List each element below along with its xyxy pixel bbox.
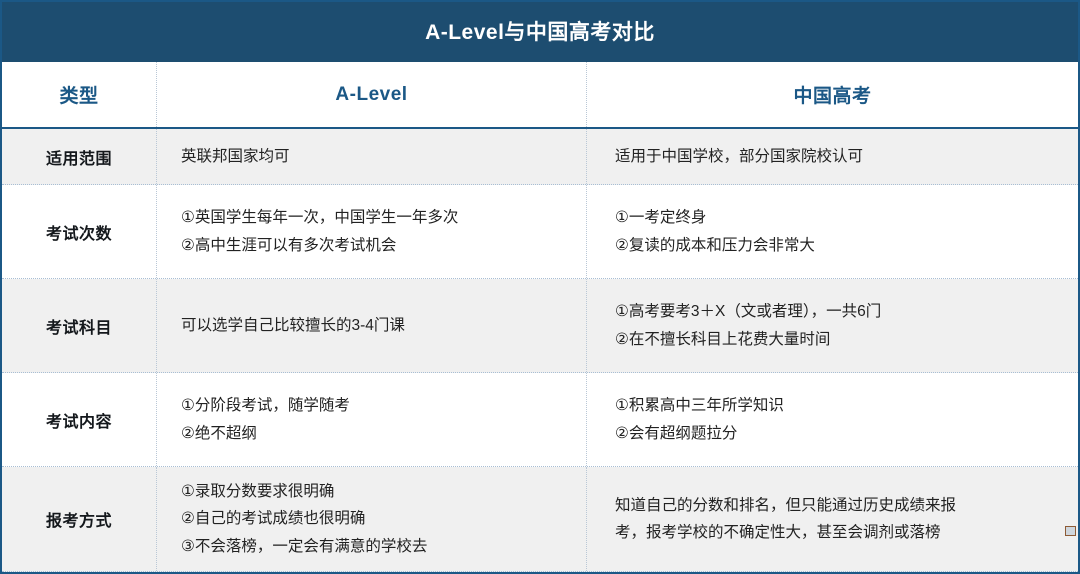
comparison-table: A-Level与中国高考对比 类型 A-Level 中国高考 适用范围 英联邦国… [0, 0, 1080, 574]
header-label-gaokao: 中国高考 [793, 81, 871, 108]
row-cell-alevel: ①录取分数要求很明确 ②自己的考试成绩也很明确 ③不会落榜，一定会有满意的学校去 [157, 467, 587, 571]
table-row: 考试次数 ①英国学生每年一次，中国学生一年多次 ②高中生涯可以有多次考试机会 ①… [2, 185, 1078, 279]
table-row: 适用范围 英联邦国家均可 适用于中国学校，部分国家院校认可 [2, 129, 1078, 185]
table-title: A-Level与中国高考对比 [425, 22, 655, 43]
row-label: 适用范围 [46, 145, 112, 169]
row-value-gaokao: ①高考要考3＋X（文或者理），一共6门 ②在不擅长科目上花费大量时间 [615, 298, 881, 352]
header-cell-type: 类型 [2, 62, 157, 127]
row-label-cell: 适用范围 [2, 129, 157, 184]
header-cell-gaokao: 中国高考 [587, 62, 1078, 127]
row-value-gaokao: ①一考定终身 ②复读的成本和压力会非常大 [615, 204, 815, 258]
row-label: 考试科目 [46, 314, 112, 338]
table-title-band: A-Level与中国高考对比 [2, 2, 1078, 62]
row-label-cell: 报考方式 [2, 467, 157, 571]
table-row: 考试内容 ①分阶段考试，随学随考 ②绝不超纲 ①积累高中三年所学知识 ②会有超纲… [2, 373, 1078, 467]
row-label: 报考方式 [46, 507, 112, 531]
row-cell-alevel: ①英国学生每年一次，中国学生一年多次 ②高中生涯可以有多次考试机会 [157, 185, 587, 278]
row-cell-gaokao: 知道自己的分数和排名，但只能通过历史成绩来报 考，报考学校的不确定性大，甚至会调… [587, 467, 1078, 571]
row-label-cell: 考试内容 [2, 373, 157, 466]
row-cell-gaokao: ①积累高中三年所学知识 ②会有超纲题拉分 [587, 373, 1078, 466]
row-value-gaokao: 适用于中国学校，部分国家院校认可 [615, 143, 863, 170]
row-cell-gaokao: ①一考定终身 ②复读的成本和压力会非常大 [587, 185, 1078, 278]
row-label-cell: 考试次数 [2, 185, 157, 278]
row-cell-alevel: 英联邦国家均可 [157, 129, 587, 184]
row-value-gaokao: ①积累高中三年所学知识 ②会有超纲题拉分 [615, 392, 784, 446]
header-label-alevel: A-Level [335, 84, 407, 106]
edge-artifact [1065, 526, 1076, 536]
row-cell-alevel: 可以选学自己比较擅长的3-4门课 [157, 279, 587, 372]
row-cell-alevel: ①分阶段考试，随学随考 ②绝不超纲 [157, 373, 587, 466]
table-row: 报考方式 ①录取分数要求很明确 ②自己的考试成绩也很明确 ③不会落榜，一定会有满… [2, 467, 1078, 572]
row-value-alevel: ①录取分数要求很明确 ②自己的考试成绩也很明确 ③不会落榜，一定会有满意的学校去 [181, 478, 427, 559]
row-label: 考试内容 [46, 408, 112, 432]
header-label-type: 类型 [59, 81, 98, 108]
row-value-alevel: ①分阶段考试，随学随考 ②绝不超纲 [181, 392, 350, 446]
table-row: 考试科目 可以选学自己比较擅长的3-4门课 ①高考要考3＋X（文或者理），一共6… [2, 279, 1078, 373]
row-label: 考试次数 [46, 220, 112, 244]
row-value-alevel: 可以选学自己比较擅长的3-4门课 [181, 312, 405, 339]
row-value-alevel: ①英国学生每年一次，中国学生一年多次 ②高中生涯可以有多次考试机会 [181, 204, 458, 258]
row-cell-gaokao: ①高考要考3＋X（文或者理），一共6门 ②在不擅长科目上花费大量时间 [587, 279, 1078, 372]
row-value-gaokao: 知道自己的分数和排名，但只能通过历史成绩来报 考，报考学校的不确定性大，甚至会调… [615, 492, 956, 546]
row-value-alevel: 英联邦国家均可 [181, 143, 290, 170]
header-cell-alevel: A-Level [157, 62, 587, 127]
row-label-cell: 考试科目 [2, 279, 157, 372]
row-cell-gaokao: 适用于中国学校，部分国家院校认可 [587, 129, 1078, 184]
table-header-row: 类型 A-Level 中国高考 [2, 62, 1078, 129]
